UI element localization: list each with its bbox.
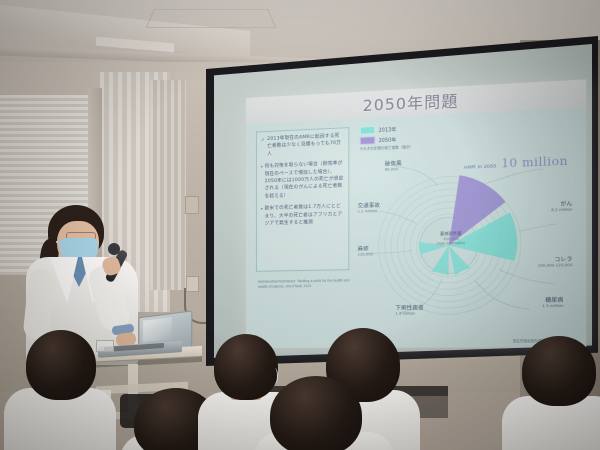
chart-label-name: AMR in 2050 <box>464 163 497 169</box>
wall-switch-plate[interactable] <box>185 196 199 214</box>
chart-label-value: 8.2 million <box>551 207 572 212</box>
chart-label-value: 1.5 million <box>542 304 563 308</box>
bullet-item: ✓ 2013年現在のAMRに起因する死亡者数は少なく見積もっても70万人 <box>261 132 344 158</box>
chart-label-cholera: コレラ 100,000-120,000 <box>538 256 573 268</box>
chart-label-value: 130,000 <box>358 252 374 256</box>
curtain-right <box>150 80 186 290</box>
chart-label-value: 10 million <box>501 154 568 170</box>
bullet-text: 欧米での死亡者数は1.7万人にとどまり、大半の死亡者はアフリカとアジアで発生する… <box>265 203 344 228</box>
presentation-slide: 2050年問題 ✓ 2013年現在のAMRに起因する死亡者数は少なく見積もっても… <box>246 79 586 348</box>
legend-label: 2050年 <box>379 136 397 144</box>
list-item <box>262 376 392 450</box>
chart-label-tetanus: 破傷風 60,000 <box>385 160 402 172</box>
audience-head <box>270 376 362 450</box>
slide-body: ✓ 2013年現在のAMRに起因する死亡者数は少なく見積もっても70万人 • 何… <box>246 107 586 348</box>
chart-label-road-traffic: 交通事故 1.2 million <box>358 202 381 214</box>
chart-label-amr-2050: AMR in 2050 10 million <box>464 151 568 174</box>
slide-citation: Antimicrobial Resistance: Tackling a cri… <box>258 278 360 290</box>
bullet-marker: ✓ <box>261 136 265 158</box>
lecture-room-photo: 2050年問題 ✓ 2013年現在のAMRに起因する死亡者数は少なく見積もっても… <box>0 0 600 450</box>
mask-earloop <box>56 241 62 243</box>
legend-swatch-purple <box>360 136 376 145</box>
chart-label-value: 1.2 million <box>358 209 381 214</box>
bullet-text: 2013年現在のAMRに起因する死亡者数は少なく見積もっても70万人 <box>267 132 344 158</box>
chart-label-value: 1.4 million <box>395 311 424 315</box>
laptop-screen-glare <box>143 317 172 342</box>
chart-label-diabetes: 糖尿病 1.5 million <box>542 296 563 308</box>
bullet-marker: • <box>261 164 263 201</box>
legend-swatch-teal <box>360 126 376 135</box>
chart-label-measles: 麻疹 130,000 <box>358 245 374 257</box>
chart-label-cancer: がん 8.2 million <box>551 200 572 212</box>
bullet-marker: • <box>261 206 263 228</box>
list-item <box>520 336 600 450</box>
ceiling-access-panel <box>146 9 277 27</box>
amr-radial-chart: AMR in 2050 10 million がん 8.2 million コレ… <box>358 144 575 337</box>
chart-label-value: 100,000-120,000 <box>538 263 573 268</box>
list-item <box>8 330 128 450</box>
chart-legend: 2013年 2050年 それぞれ年間の死亡者数（推計） <box>360 123 436 152</box>
chart-center-label: 薬剤耐性菌 700,000 (low estimate) <box>423 230 479 246</box>
chart-label-diarrhoeal: 下痢性疾患 1.4 million <box>395 304 424 316</box>
bullet-text: 何も対策を取らない場合（耐性率が現在のペースで増加した場合）、2050年には10… <box>265 160 344 200</box>
audience-head <box>522 336 596 406</box>
chart-label-value: 60,000 <box>385 167 402 172</box>
audience-head <box>26 330 96 400</box>
bullet-item: • 欧米での死亡者数は1.7万人にとどまり、大半の死亡者はアフリカとアジアで発生… <box>261 203 344 228</box>
microphone-head <box>108 243 120 255</box>
bullet-item: • 何も対策を取らない場合（耐性率が現在のペースで増加した場合）、2050年には… <box>261 160 344 201</box>
legend-label: 2013年 <box>379 125 397 133</box>
slide-bullet-box: ✓ 2013年現在のAMRに起因する死亡者数は少なく見積もっても70万人 • 何… <box>256 127 349 272</box>
